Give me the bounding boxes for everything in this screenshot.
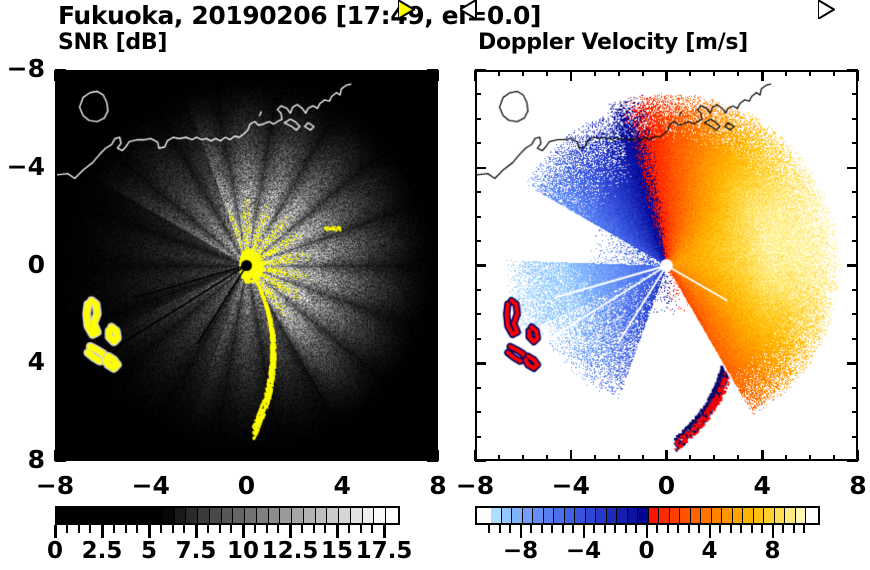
y-tick — [55, 142, 61, 144]
snr-colorbar-frame — [55, 506, 400, 525]
y-tick — [475, 411, 481, 413]
colorbar-segment — [785, 508, 796, 523]
y-tick — [852, 240, 858, 242]
x-tick — [150, 70, 153, 81]
x-tick — [150, 450, 153, 461]
colorbar-tick — [113, 525, 115, 533]
colorbar-tick — [254, 525, 256, 533]
colorbar-segment — [327, 508, 339, 523]
y-tick — [475, 387, 481, 389]
colorbar-tick-label: 8 — [733, 538, 813, 564]
x-tick — [437, 70, 440, 81]
colorbar-segment — [512, 508, 523, 523]
y-tick — [847, 69, 858, 72]
colorbar-tick — [160, 525, 162, 533]
colorbar-segment — [628, 508, 639, 523]
y-tick — [55, 69, 66, 72]
x-tick — [857, 450, 860, 461]
colorbar-segment — [533, 508, 544, 523]
colorbar-segment — [269, 508, 281, 523]
x-axis-label: −4 — [541, 471, 601, 500]
y-tick — [55, 313, 61, 315]
x-tick — [126, 70, 128, 76]
x-tick — [437, 450, 440, 461]
colorbar-tick — [183, 525, 185, 533]
colorbar-tick — [635, 525, 637, 533]
x-tick — [413, 70, 415, 76]
colorbar-segment — [128, 508, 140, 523]
x-tick — [498, 70, 500, 76]
colorbar-segment — [743, 508, 754, 523]
x-tick — [737, 70, 739, 76]
colorbar-tick — [336, 525, 339, 538]
y-tick — [475, 362, 486, 365]
colorbar-segment — [116, 508, 128, 523]
colorbar-tick — [207, 525, 209, 533]
colorbar-tick — [509, 525, 511, 533]
doppler-colorbar[interactable] — [475, 506, 820, 525]
y-tick — [847, 264, 858, 267]
x-tick — [665, 450, 668, 461]
y-tick — [852, 313, 858, 315]
y-tick — [55, 460, 66, 463]
x-tick — [365, 70, 367, 76]
colorbar-tick — [89, 525, 91, 533]
colorbar-tick — [793, 525, 795, 533]
x-axis-label: −8 — [445, 471, 505, 500]
colorbar-segment — [316, 508, 328, 523]
y-tick — [852, 216, 858, 218]
x-axis-label: −4 — [121, 471, 181, 500]
x-tick — [618, 455, 620, 461]
colorbar-segment — [554, 508, 565, 523]
colorbar-segment — [351, 508, 363, 523]
right-panel-subtitle: Doppler Velocity [m/s] — [478, 30, 748, 55]
y-tick — [432, 93, 438, 95]
y-tick — [475, 460, 486, 463]
colorbar-tick — [172, 525, 174, 533]
x-tick — [809, 70, 811, 76]
colorbar-tick — [614, 525, 616, 533]
colorbar-tick — [136, 525, 138, 533]
x-tick — [785, 70, 787, 76]
x-tick — [198, 70, 200, 76]
y-tick — [475, 313, 481, 315]
x-tick — [317, 70, 319, 76]
y-tick — [847, 167, 858, 170]
y-tick — [55, 240, 61, 242]
colorbar-tick — [667, 525, 669, 533]
y-tick — [432, 289, 438, 291]
x-tick — [102, 455, 104, 461]
colorbar-tick — [520, 525, 523, 538]
y-tick — [432, 436, 438, 438]
colorbar-tick — [562, 525, 564, 533]
colorbar-tick — [761, 525, 763, 533]
x-tick — [642, 70, 644, 76]
x-tick — [665, 70, 668, 81]
y-axis-label: 0 — [0, 250, 45, 279]
colorbar-tick — [371, 525, 373, 533]
x-tick — [689, 455, 691, 461]
x-axis-label: 0 — [637, 471, 697, 500]
y-tick — [852, 191, 858, 193]
x-tick — [809, 455, 811, 461]
colorbar-tick — [348, 525, 350, 533]
x-tick — [198, 455, 200, 461]
colorbar-tick — [604, 525, 606, 533]
colorbar-segment — [670, 508, 681, 523]
y-tick — [432, 118, 438, 120]
x-tick — [102, 70, 104, 76]
x-tick — [713, 455, 715, 461]
colorbar-extend-arrow — [460, 0, 477, 19]
y-tick — [475, 436, 481, 438]
colorbar-segment — [81, 508, 93, 523]
x-tick — [689, 70, 691, 76]
x-tick — [857, 70, 860, 81]
colorbar-tick — [66, 525, 68, 533]
colorbar-tick — [709, 525, 712, 538]
colorbar-segment — [659, 508, 670, 523]
x-tick — [546, 70, 548, 76]
colorbar-segment — [680, 508, 691, 523]
y-tick — [55, 216, 61, 218]
y-tick — [475, 69, 486, 72]
y-tick — [475, 93, 481, 95]
x-tick — [365, 455, 367, 461]
x-tick — [594, 70, 596, 76]
y-tick — [475, 338, 481, 340]
y-tick — [475, 240, 481, 242]
y-tick — [475, 191, 481, 193]
y-tick — [55, 436, 61, 438]
x-tick — [413, 455, 415, 461]
colorbar-segment — [233, 508, 245, 523]
colorbar-segment — [502, 508, 513, 523]
colorbar-tick-label: 17.5 — [344, 538, 424, 564]
y-tick — [432, 216, 438, 218]
y-tick — [55, 338, 61, 340]
doppler-plot-panel[interactable] — [475, 70, 858, 461]
x-tick — [761, 450, 764, 461]
colorbar-tick — [219, 525, 221, 533]
colorbar-tick — [499, 525, 501, 533]
y-axis-label: −8 — [0, 54, 45, 83]
x-tick — [713, 70, 715, 76]
y-axis-label: 4 — [0, 347, 45, 376]
x-tick — [174, 70, 176, 76]
x-tick — [389, 70, 391, 76]
x-tick — [222, 455, 224, 461]
x-tick — [833, 70, 835, 76]
colorbar-tick — [230, 525, 232, 533]
x-axis-label: −8 — [25, 471, 85, 500]
x-tick — [54, 70, 57, 81]
x-axis-label: 0 — [217, 471, 277, 500]
colorbar-tick — [148, 525, 151, 538]
y-tick — [427, 69, 438, 72]
colorbar-segment — [607, 508, 618, 523]
colorbar-segment — [163, 508, 175, 523]
x-axis-label: 4 — [312, 471, 372, 500]
x-tick — [317, 455, 319, 461]
x-tick — [293, 455, 295, 461]
colorbar-segment — [245, 508, 257, 523]
x-tick — [642, 455, 644, 461]
colorbar-tick — [625, 525, 627, 533]
colorbar-segment — [796, 508, 807, 523]
colorbar-segment — [491, 508, 502, 523]
x-tick — [126, 455, 128, 461]
colorbar-tick — [719, 525, 721, 533]
colorbar-tick — [688, 525, 690, 533]
colorbar-segment — [374, 508, 386, 523]
y-tick — [852, 289, 858, 291]
colorbar-segment — [649, 508, 660, 523]
colorbar-segment — [198, 508, 210, 523]
colorbar-segment — [92, 508, 104, 523]
colorbar-segment — [186, 508, 198, 523]
doppler-radar-image — [477, 72, 856, 459]
colorbar-tick — [698, 525, 700, 533]
x-tick — [618, 70, 620, 76]
y-tick — [852, 142, 858, 144]
left-panel-subtitle: SNR [dB] — [58, 30, 167, 55]
x-tick — [174, 455, 176, 461]
colorbar-tick — [78, 525, 80, 533]
y-tick — [432, 191, 438, 193]
colorbar-segment — [764, 508, 775, 523]
x-axis-label: 8 — [828, 471, 870, 500]
colorbar-tick — [646, 525, 649, 538]
colorbar-segment — [596, 508, 607, 523]
colorbar-segment — [523, 508, 534, 523]
colorbar-tick — [360, 525, 362, 533]
snr-plot-panel[interactable] — [55, 70, 438, 461]
colorbar-segment — [691, 508, 702, 523]
colorbar-segment — [544, 508, 555, 523]
x-tick — [522, 455, 524, 461]
colorbar-tick — [101, 525, 104, 538]
y-tick — [432, 142, 438, 144]
colorbar-extend-arrow — [398, 0, 415, 19]
doppler-colorbar-frame — [475, 506, 820, 525]
colorbar-tick — [656, 525, 658, 533]
y-tick — [475, 167, 486, 170]
y-axis-label: 8 — [0, 445, 45, 474]
y-tick — [852, 436, 858, 438]
y-tick — [427, 264, 438, 267]
colorbar-segment — [363, 508, 375, 523]
x-tick — [498, 455, 500, 461]
x-tick — [389, 455, 391, 461]
x-tick — [474, 70, 477, 81]
x-tick — [341, 450, 344, 461]
y-tick — [475, 289, 481, 291]
x-tick — [78, 455, 80, 461]
colorbar-tick — [751, 525, 753, 533]
y-tick — [475, 264, 486, 267]
colorbar-tick — [541, 525, 543, 533]
y-tick — [852, 93, 858, 95]
y-tick — [55, 167, 66, 170]
y-tick — [847, 362, 858, 365]
y-tick — [55, 387, 61, 389]
y-tick — [475, 142, 481, 144]
colorbar-segment — [733, 508, 744, 523]
y-tick — [55, 264, 66, 267]
y-tick — [432, 313, 438, 315]
colorbar-tick — [324, 525, 326, 533]
x-tick — [245, 450, 248, 461]
x-tick — [833, 455, 835, 461]
colorbar-tick — [740, 525, 742, 533]
y-tick — [852, 411, 858, 413]
x-tick — [341, 70, 344, 81]
colorbar-segment — [586, 508, 597, 523]
colorbar-segment — [175, 508, 187, 523]
y-tick — [432, 387, 438, 389]
y-tick — [852, 118, 858, 120]
colorbar-segment — [722, 508, 733, 523]
colorbar-segment — [139, 508, 151, 523]
colorbar-segment — [617, 508, 628, 523]
colorbar-tick — [266, 525, 268, 533]
x-tick — [737, 455, 739, 461]
y-tick — [55, 191, 61, 193]
colorbar-tick — [195, 525, 198, 538]
colorbar-segment — [775, 508, 786, 523]
y-tick — [852, 387, 858, 389]
x-tick — [222, 70, 224, 76]
x-tick — [245, 70, 248, 81]
y-tick — [427, 362, 438, 365]
y-tick — [55, 289, 61, 291]
x-tick — [269, 455, 271, 461]
colorbar-tick — [301, 525, 303, 533]
colorbar-segment — [575, 508, 586, 523]
y-tick — [55, 362, 66, 365]
x-tick — [570, 450, 573, 461]
colorbar-segment — [565, 508, 576, 523]
colorbar-segment — [712, 508, 723, 523]
colorbar-tick — [530, 525, 532, 533]
colorbar-tick — [572, 525, 574, 533]
colorbar-segment — [257, 508, 269, 523]
colorbar-tick — [593, 525, 595, 533]
colorbar-tick — [125, 525, 127, 533]
colorbar-tick — [803, 525, 805, 533]
colorbar-segment — [69, 508, 81, 523]
x-tick — [761, 70, 764, 81]
colorbar-tick — [782, 525, 784, 533]
colorbar-segment — [754, 508, 765, 523]
x-tick — [546, 455, 548, 461]
colorbar-segment — [339, 508, 351, 523]
colorbar-segment — [638, 508, 649, 523]
y-tick — [432, 411, 438, 413]
colorbar-tick — [313, 525, 315, 533]
x-tick — [293, 70, 295, 76]
colorbar-segment — [222, 508, 234, 523]
snr-colorbar[interactable] — [55, 506, 400, 525]
colorbar-tick — [277, 525, 279, 533]
colorbar-tick — [583, 525, 586, 538]
colorbar-tick — [383, 525, 386, 538]
snr-radar-image — [57, 72, 436, 459]
y-tick — [432, 240, 438, 242]
colorbar-tick — [289, 525, 292, 538]
colorbar-tick — [730, 525, 732, 533]
colorbar-extend-arrow — [818, 0, 835, 19]
x-tick — [269, 70, 271, 76]
y-axis-label: −4 — [0, 152, 45, 181]
colorbar-tick — [677, 525, 679, 533]
colorbar-segment — [210, 508, 222, 523]
colorbar-tick — [488, 525, 490, 533]
y-tick — [432, 338, 438, 340]
colorbar-segment — [304, 508, 316, 523]
colorbar-segment — [104, 508, 116, 523]
colorbar-segment — [151, 508, 163, 523]
y-tick — [475, 216, 481, 218]
radar-figure: Fukuoka, 20190206 [17:49, el=0.0] SNR [d… — [0, 0, 870, 570]
x-axis-label: 4 — [732, 471, 792, 500]
x-tick — [594, 455, 596, 461]
x-tick — [785, 455, 787, 461]
y-tick — [475, 118, 481, 120]
colorbar-segment — [57, 508, 69, 523]
y-tick — [55, 411, 61, 413]
y-tick — [55, 93, 61, 95]
x-tick — [570, 70, 573, 81]
x-tick — [522, 70, 524, 76]
y-tick — [852, 338, 858, 340]
colorbar-tick — [551, 525, 553, 533]
colorbar-tick — [772, 525, 775, 538]
y-tick — [427, 167, 438, 170]
colorbar-segment — [292, 508, 304, 523]
colorbar-segment — [701, 508, 712, 523]
colorbar-segment — [280, 508, 292, 523]
y-tick — [55, 118, 61, 120]
colorbar-tick — [242, 525, 245, 538]
x-tick — [78, 70, 80, 76]
colorbar-tick — [54, 525, 57, 538]
